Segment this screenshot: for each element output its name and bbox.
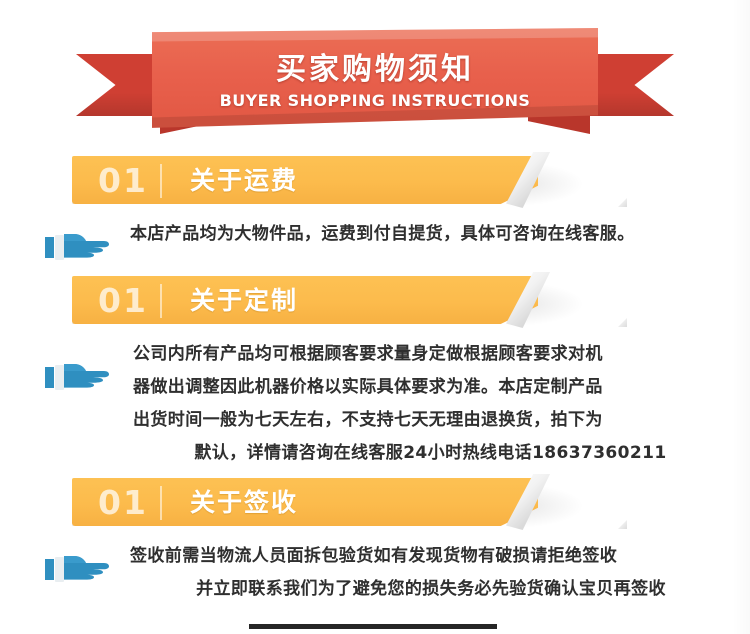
body-line: 本店产品均为大物件品，运费到付自提货，具体可咨询在线客服。 — [130, 218, 732, 251]
section-header: 01 关于定制 — [72, 276, 538, 324]
banner-text-group: 买家购物须知 BUYER SHOPPING INSTRUCTIONS — [152, 28, 598, 132]
section-header: 01 关于签收 — [72, 478, 538, 526]
section-title: 关于运费 — [190, 163, 298, 198]
section-title: 关于定制 — [190, 283, 298, 318]
section-text-block: 公司内所有产品均可根据顾客要求量身定做根据顾客要求对机 器做出调整因此机器价格以… — [133, 338, 728, 470]
section-number: 01 — [98, 160, 148, 202]
section-text-block: 签收前需当物流人员面拆包验货如有发现货物有破损请拒绝签收 并立即联系我们为了避免… — [130, 540, 732, 606]
body-line: 公司内所有产品均可根据顾客要求量身定做根据顾客要求对机 — [133, 338, 728, 371]
product-detail-page: 买家购物须知 BUYER SHOPPING INSTRUCTIONS 01 关于… — [0, 0, 750, 634]
page-corner-tick-icon — [618, 520, 627, 529]
section-text-block: 本店产品均为大物件品，运费到付自提货，具体可咨询在线客服。 — [130, 218, 732, 251]
body-line: 签收前需当物流人员面拆包验货如有发现货物有破损请拒绝签收 — [130, 540, 732, 573]
section-about-customization: 01 关于定制 公司内所有产品均可根据顾客要求量身定做根据顾客要求对机 器做出调… — [0, 276, 750, 470]
banner-ribbon: 买家购物须知 BUYER SHOPPING INSTRUCTIONS — [0, 28, 750, 144]
pointing-hand-icon — [44, 226, 120, 268]
pointing-hand-icon — [44, 356, 120, 398]
bottom-divider-bar — [249, 624, 497, 629]
banner-title-english: BUYER SHOPPING INSTRUCTIONS — [220, 91, 531, 110]
pointing-hand-icon — [44, 548, 120, 590]
page-corner-tick-icon — [618, 318, 627, 327]
body-line: 并立即联系我们为了避免您的损失务必先验货确认宝贝再签收 — [130, 573, 732, 606]
section-title: 关于签收 — [190, 485, 298, 520]
section-number: 01 — [98, 482, 148, 524]
page-corner-tick-icon — [618, 198, 627, 207]
body-line: 出货时间一般为七天左右，不支持七天无理由退换货，拍下为 — [133, 404, 728, 437]
section-divider — [160, 284, 162, 318]
banner-title-chinese: 买家购物须知 — [276, 54, 474, 86]
section-about-receiving: 01 关于签收 签收前需当物流人员面拆包验货如有发现货物有破损请拒绝签收 并立即… — [0, 478, 750, 606]
section-body: 签收前需当物流人员面拆包验货如有发现货物有破损请拒绝签收 并立即联系我们为了避免… — [0, 540, 750, 606]
body-line: 默认，详情请咨询在线客服24小时热线电话18637360211 — [133, 437, 728, 470]
section-divider — [160, 486, 162, 520]
section-body: 本店产品均为大物件品，运费到付自提货，具体可咨询在线客服。 — [0, 218, 750, 251]
section-divider — [160, 164, 162, 198]
section-number: 01 — [98, 280, 148, 322]
section-about-shipping: 01 关于运费 本店产品均为大物件品，运费到付自提货，具体可咨询在线客服。 — [0, 156, 750, 251]
section-header: 01 关于运费 — [72, 156, 538, 204]
section-body: 公司内所有产品均可根据顾客要求量身定做根据顾客要求对机 器做出调整因此机器价格以… — [0, 338, 750, 470]
body-line: 器做出调整因此机器价格以实际具体要求为准。本店定制产品 — [133, 371, 728, 404]
